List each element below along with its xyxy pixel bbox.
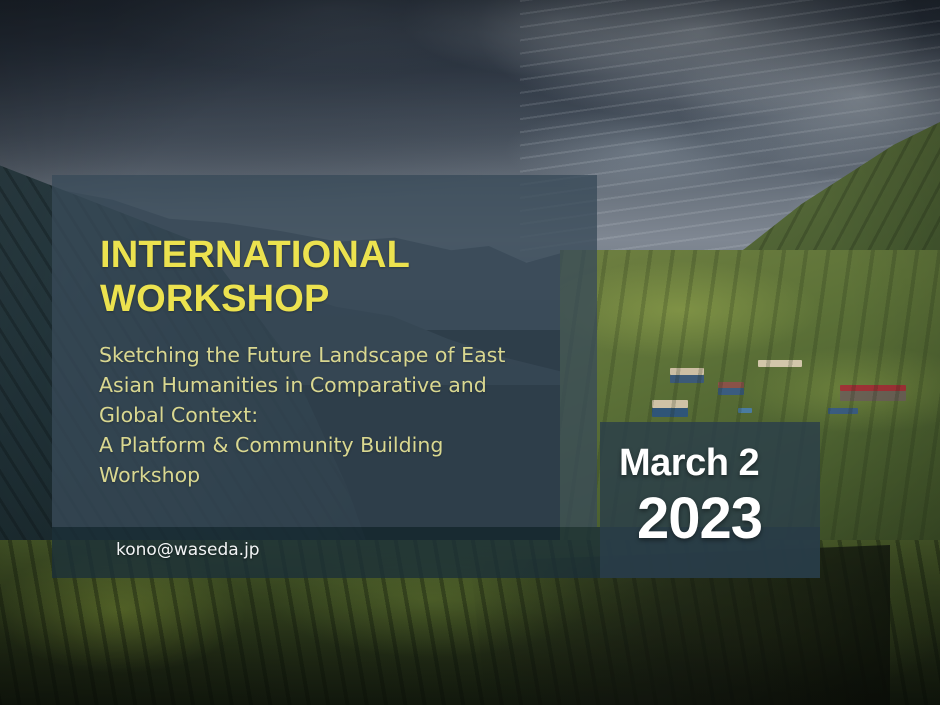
poster-canvas: INTERNATIONALWORKSHOP Sketching the Futu… <box>0 0 940 705</box>
subtitle-line-2: Asian Humanities in Comparative and <box>99 370 569 400</box>
title-line-1: INTERNATIONAL <box>100 234 410 276</box>
subtitle-line-1: Sketching the Future Landscape of East <box>99 340 569 370</box>
date-year: 2023 <box>637 487 762 551</box>
subtitle-block: Sketching the Future Landscape of East A… <box>99 340 569 490</box>
title-line-2: WORKSHOP <box>100 278 330 320</box>
subtitle-line-4: A Platform & Community Building <box>99 430 569 460</box>
page-title: INTERNATIONALWORKSHOP <box>100 233 570 321</box>
date-month-day: March 2 <box>619 442 759 484</box>
subtitle-line-5: Workshop <box>99 460 569 490</box>
contact-email[interactable]: kono@waseda.jp <box>116 538 260 562</box>
subtitle-line-3: Global Context: <box>99 400 569 430</box>
